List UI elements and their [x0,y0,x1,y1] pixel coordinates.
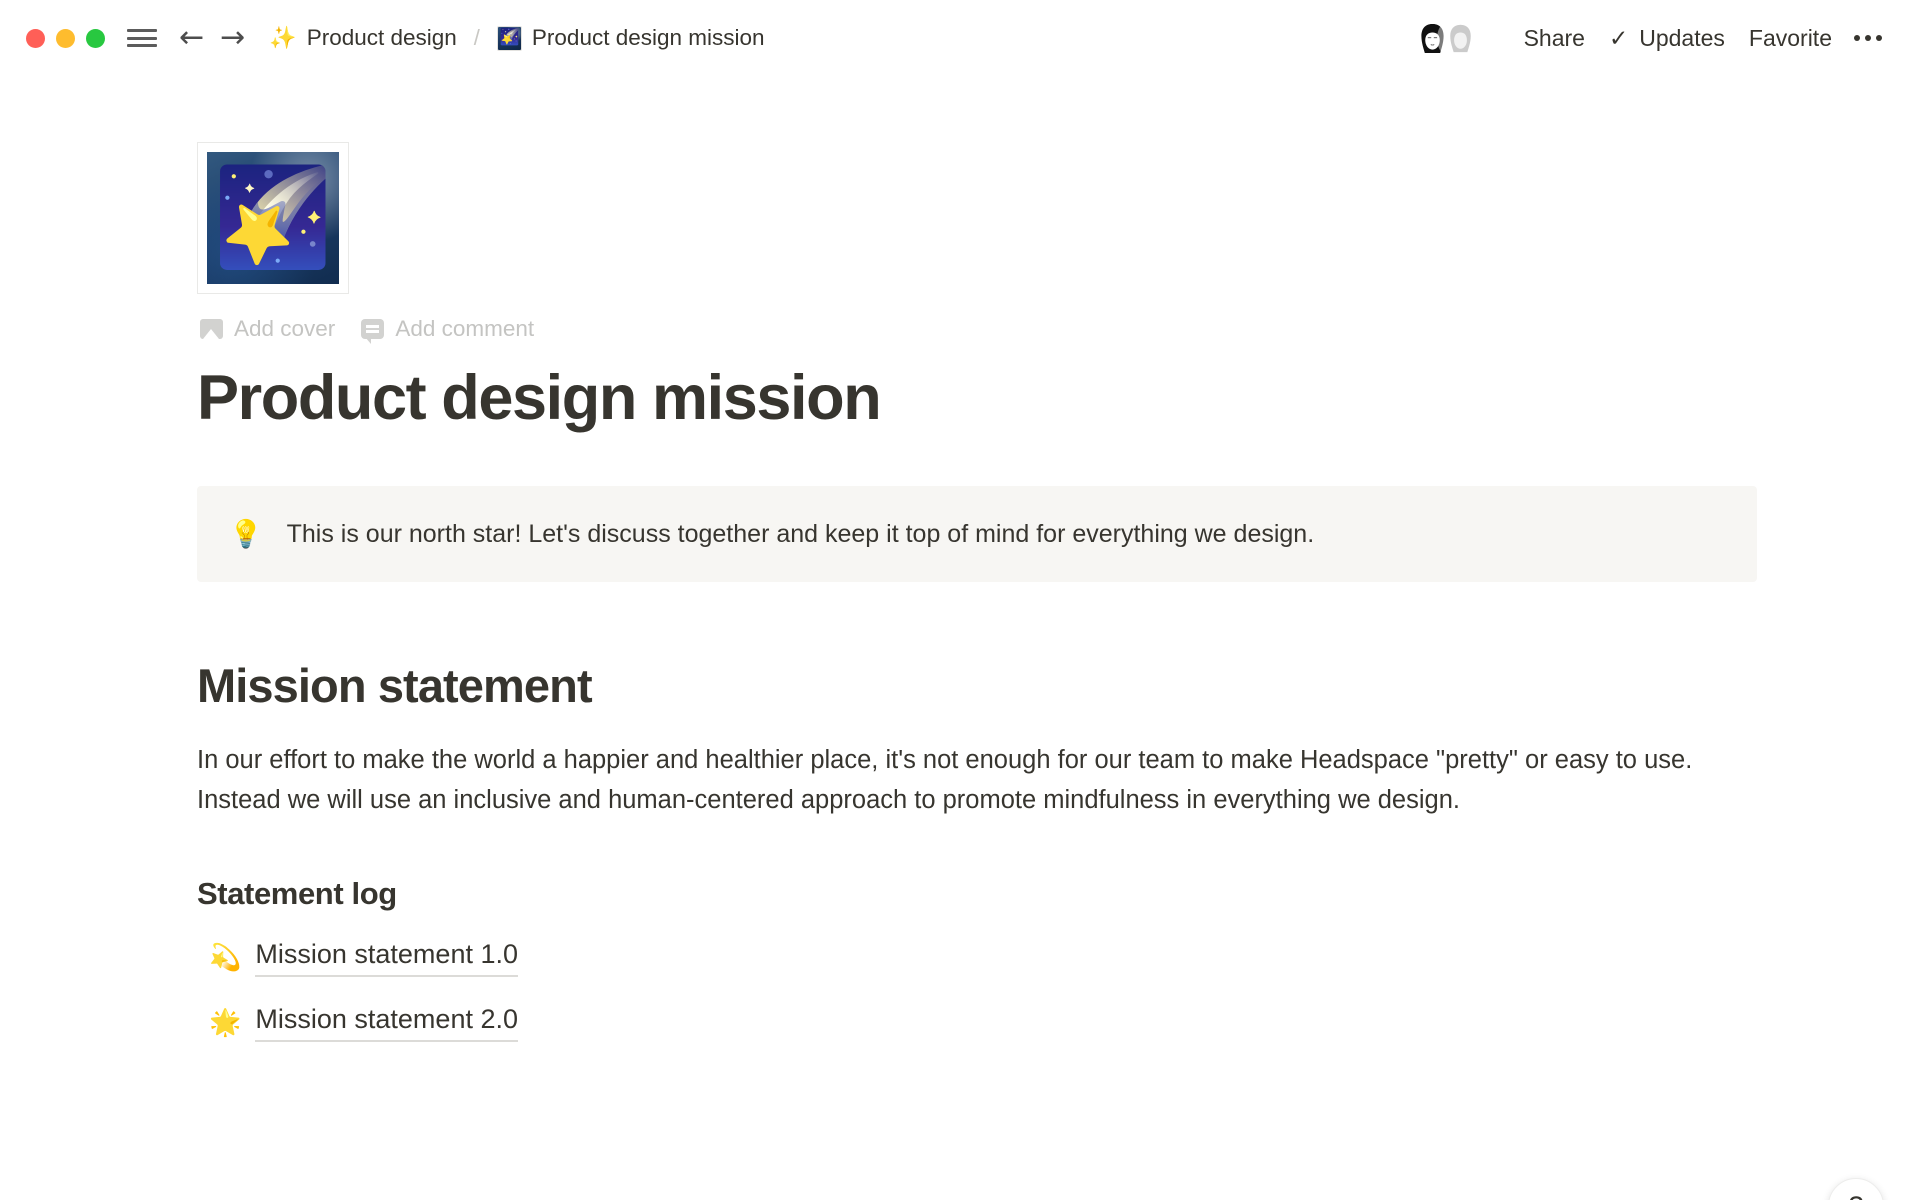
share-label: Share [1524,25,1585,52]
dot-3 [1876,35,1882,41]
favorite-button[interactable]: Favorite [1737,21,1844,56]
dizzy-star-icon: 💫 [209,944,241,970]
close-window-button[interactable] [26,29,45,48]
navigation-arrows: ← → [179,23,245,53]
breadcrumb-label-product-design-mission: Product design mission [532,25,765,51]
avatar-user-2[interactable] [1437,15,1484,62]
page-icon[interactable]: 🌠 [197,142,349,294]
collaborator-avatars[interactable] [1409,15,1484,62]
image-icon [200,319,223,339]
sparkles-icon: ✨ [269,27,296,49]
updates-label: Updates [1639,25,1725,52]
list-item[interactable]: 💫 Mission statement 1.0 [209,938,518,977]
maximize-window-button[interactable] [86,29,105,48]
add-comment-label: Add comment [395,316,534,342]
breadcrumb: ✨ Product design / 🌠 Product design miss… [269,25,764,51]
check-icon: ✓ [1609,27,1628,50]
section-heading-statement-log[interactable]: Statement log [197,876,1757,912]
window-controls [26,29,105,48]
topbar-actions: Share ✓ Updates Favorite [1409,15,1892,62]
forward-arrow-icon[interactable]: → [220,23,245,53]
shooting-star-page-icon: 🌠 [497,26,522,51]
page-title[interactable]: Product design mission [197,364,1757,432]
breadcrumb-separator: / [474,25,480,51]
share-button[interactable]: Share [1512,21,1597,56]
updates-button[interactable]: ✓ Updates [1597,21,1737,56]
dot-2 [1865,35,1871,41]
page-link-mission-statement-2[interactable]: Mission statement 2.0 [255,1003,518,1042]
add-cover-button[interactable]: Add cover [200,316,335,342]
back-arrow-icon[interactable]: ← [179,23,204,53]
callout-text: This is our north star! Let's discuss to… [287,516,1315,552]
add-cover-label: Add cover [234,316,335,342]
page-icon-inner: 🌠 [207,152,339,284]
more-options-icon[interactable] [1844,31,1892,45]
section-heading-mission-statement[interactable]: Mission statement [197,658,1757,713]
page-link-mission-statement-1[interactable]: Mission statement 1.0 [255,938,518,977]
breadcrumb-item-product-design[interactable]: ✨ Product design [269,25,457,51]
add-comment-button[interactable]: Add comment [361,316,534,342]
page-content: 🌠 Add cover Add comment Product design m… [197,142,1757,1042]
section-body-mission-statement[interactable]: In our effort to make the world a happie… [197,741,1712,820]
breadcrumb-label-product-design: Product design [307,25,457,51]
help-button[interactable]: ? [1828,1178,1884,1200]
dot-1 [1854,35,1860,41]
callout-block[interactable]: 💡 This is our north star! Let's discuss … [197,486,1757,582]
list-item[interactable]: 🌟 Mission statement 2.0 [209,1003,518,1042]
avatar-user-2-image [1440,18,1481,59]
page-body: 🌠 Add cover Add comment Product design m… [0,142,1920,1200]
shooting-star-icon: 🌠 [499,30,519,46]
comment-icon [361,319,384,339]
shooting-star-icon: 🌠 [213,170,333,266]
sidebar-toggle-icon[interactable] [127,26,157,50]
favorite-label: Favorite [1749,25,1832,52]
window-titlebar: ← → ✨ Product design / 🌠 Product design … [0,0,1920,76]
glowing-star-icon: 🌟 [209,1009,241,1035]
breadcrumb-item-product-design-mission[interactable]: 🌠 Product design mission [497,25,765,51]
lightbulb-icon: 💡 [229,516,263,552]
page-meta-actions: Add cover Add comment [200,316,1757,342]
minimize-window-button[interactable] [56,29,75,48]
